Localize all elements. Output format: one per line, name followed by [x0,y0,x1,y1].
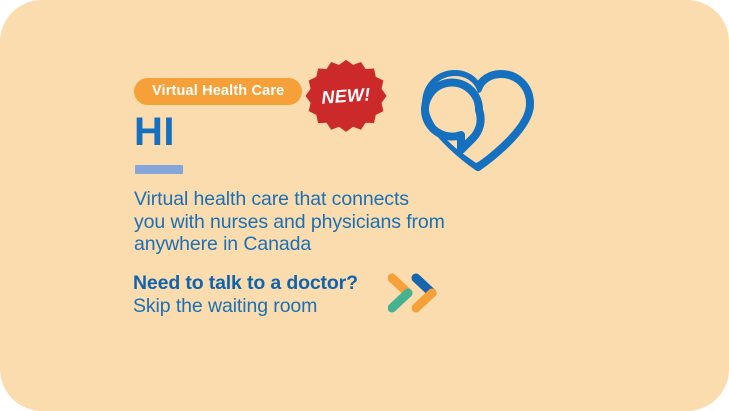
chevron-right-icon [388,270,440,316]
promo-card: Virtual Health Care NEW! HI Virtual heal… [0,0,729,411]
heart-icon [418,66,538,176]
cta-block[interactable]: Need to talk to a doctor? Skip the waiti… [133,272,383,318]
body-copy-line-1: Virtual health care that connects [134,188,494,211]
heart-speech-bubble-logo [418,66,538,176]
new-badge-label: NEW! [300,47,392,145]
headline-underline [135,165,183,174]
body-copy-line-3: anywhere in Canada [134,233,494,256]
cta-subtext: Skip the waiting room [133,295,383,318]
category-pill: Virtual Health Care [134,78,302,105]
category-pill-label: Virtual Health Care [152,84,284,99]
new-badge: NEW! [303,50,389,142]
body-copy-line-2: you with nurses and physicians from [134,211,494,234]
cta-headline: Need to talk to a doctor? [133,272,383,295]
double-chevron-right-icon[interactable] [388,270,440,316]
page-title: HI [134,112,175,152]
body-copy: Virtual health care that connects you wi… [134,188,494,256]
